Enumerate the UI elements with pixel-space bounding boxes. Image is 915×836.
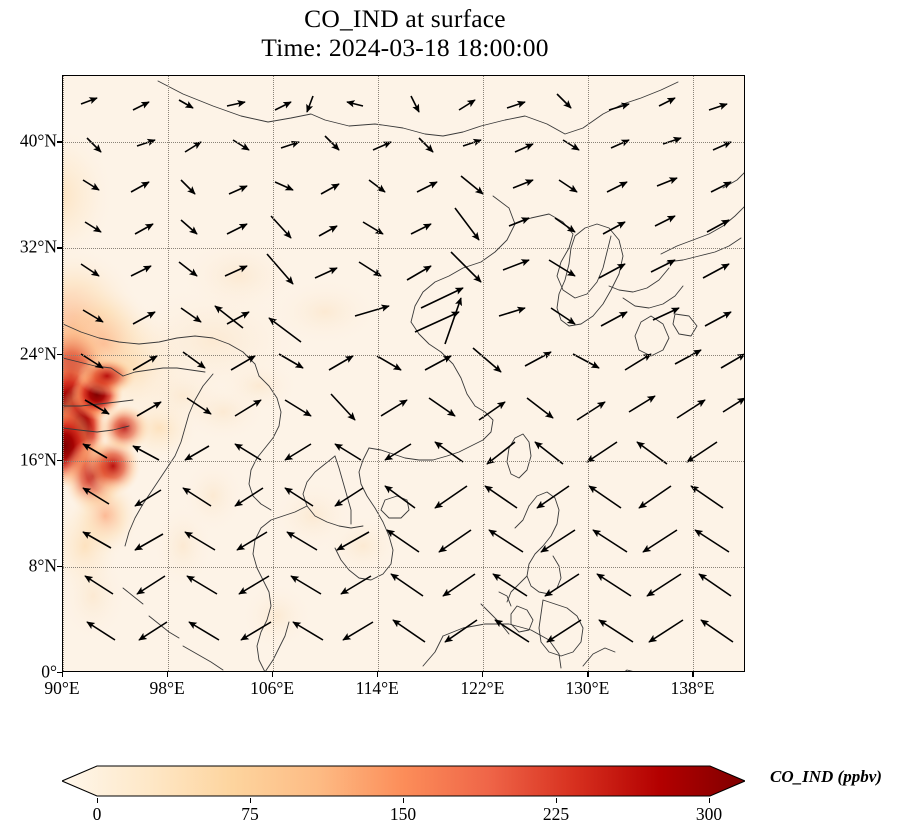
y-axis-tick bbox=[57, 141, 62, 142]
x-axis-tick-label: 138°E bbox=[670, 678, 714, 699]
x-axis-tick bbox=[167, 672, 168, 677]
y-axis-tick-label: 40°N bbox=[20, 131, 57, 152]
colorbar-tick bbox=[250, 798, 251, 803]
colorbar-tick-label: 225 bbox=[543, 804, 569, 825]
y-axis-tick bbox=[57, 354, 62, 355]
title-line-time: Time: 2024-03-18 18:00:00 bbox=[0, 33, 810, 62]
title-line-variable: CO_IND at surface bbox=[0, 4, 810, 33]
colorbar-tick-label: 0 bbox=[93, 804, 102, 825]
colorbar-tick bbox=[403, 798, 404, 803]
x-axis-tick-label: 114°E bbox=[356, 678, 399, 699]
x-axis-tick-label: 106°E bbox=[250, 678, 294, 699]
y-axis-tick bbox=[57, 247, 62, 248]
x-axis-tick bbox=[377, 672, 378, 677]
y-axis-tick bbox=[57, 566, 62, 567]
colorbar-gradient bbox=[62, 764, 745, 798]
x-axis-tick bbox=[692, 672, 693, 677]
y-axis-tick bbox=[57, 672, 62, 673]
colorbar-label: CO_IND (ppbv) bbox=[770, 767, 882, 787]
y-axis-tick-label: 0° bbox=[41, 662, 57, 683]
colorbar-tick-label: 300 bbox=[696, 804, 722, 825]
x-axis-tick-label: 122°E bbox=[460, 678, 504, 699]
x-axis-tick bbox=[62, 672, 63, 677]
map-canvas bbox=[63, 76, 744, 671]
colorbar[interactable]: 0 75 150 225 300 bbox=[62, 764, 745, 804]
figure-title: CO_IND at surface Time: 2024-03-18 18:00… bbox=[0, 4, 810, 62]
x-axis-tick-label: 98°E bbox=[149, 678, 184, 699]
x-axis-tick bbox=[587, 672, 588, 677]
colorbar-tick-label: 150 bbox=[390, 804, 416, 825]
x-axis-tick bbox=[272, 672, 273, 677]
x-axis-tick-label: 130°E bbox=[565, 678, 609, 699]
colorbar-tick bbox=[709, 798, 710, 803]
colorbar-tick bbox=[556, 798, 557, 803]
colorbar-tick-label: 75 bbox=[241, 804, 259, 825]
colorbar-tick bbox=[97, 798, 98, 803]
y-axis-tick-label: 32°N bbox=[20, 237, 57, 258]
y-axis-tick-label: 16°N bbox=[20, 449, 57, 470]
map-field-and-overlays bbox=[63, 76, 744, 671]
y-axis-tick-label: 8°N bbox=[29, 555, 57, 576]
map-axes[interactable] bbox=[62, 75, 745, 672]
y-axis-tick-label: 24°N bbox=[20, 343, 57, 364]
y-axis-tick bbox=[57, 460, 62, 461]
x-axis-tick bbox=[482, 672, 483, 677]
